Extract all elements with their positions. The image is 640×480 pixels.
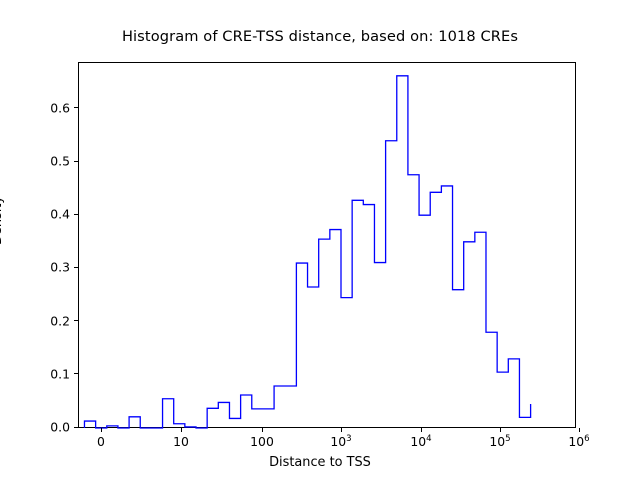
x-tick-mark [500, 428, 501, 432]
y-axis-label: Density [0, 196, 5, 245]
x-tick-label: 103 [330, 434, 351, 449]
x-tick-mark [421, 428, 422, 432]
x-tick-label: 106 [568, 434, 589, 449]
x-axis-ticks: 010100103104105106 [0, 0, 640, 480]
x-tick-label: 0 [97, 434, 105, 449]
x-axis-label: Distance to TSS [0, 455, 640, 470]
figure-canvas: Histogram of CRE-TSS distance, based on:… [0, 0, 640, 480]
x-tick-mark [341, 428, 342, 432]
x-tick-mark [579, 428, 580, 432]
x-tick-mark [101, 428, 102, 432]
x-tick-label: 104 [410, 434, 431, 449]
x-tick-mark [181, 428, 182, 432]
x-tick-label: 10 [173, 434, 189, 449]
x-tick-mark [262, 428, 263, 432]
x-tick-label: 100 [250, 434, 274, 449]
x-tick-label: 105 [489, 434, 510, 449]
